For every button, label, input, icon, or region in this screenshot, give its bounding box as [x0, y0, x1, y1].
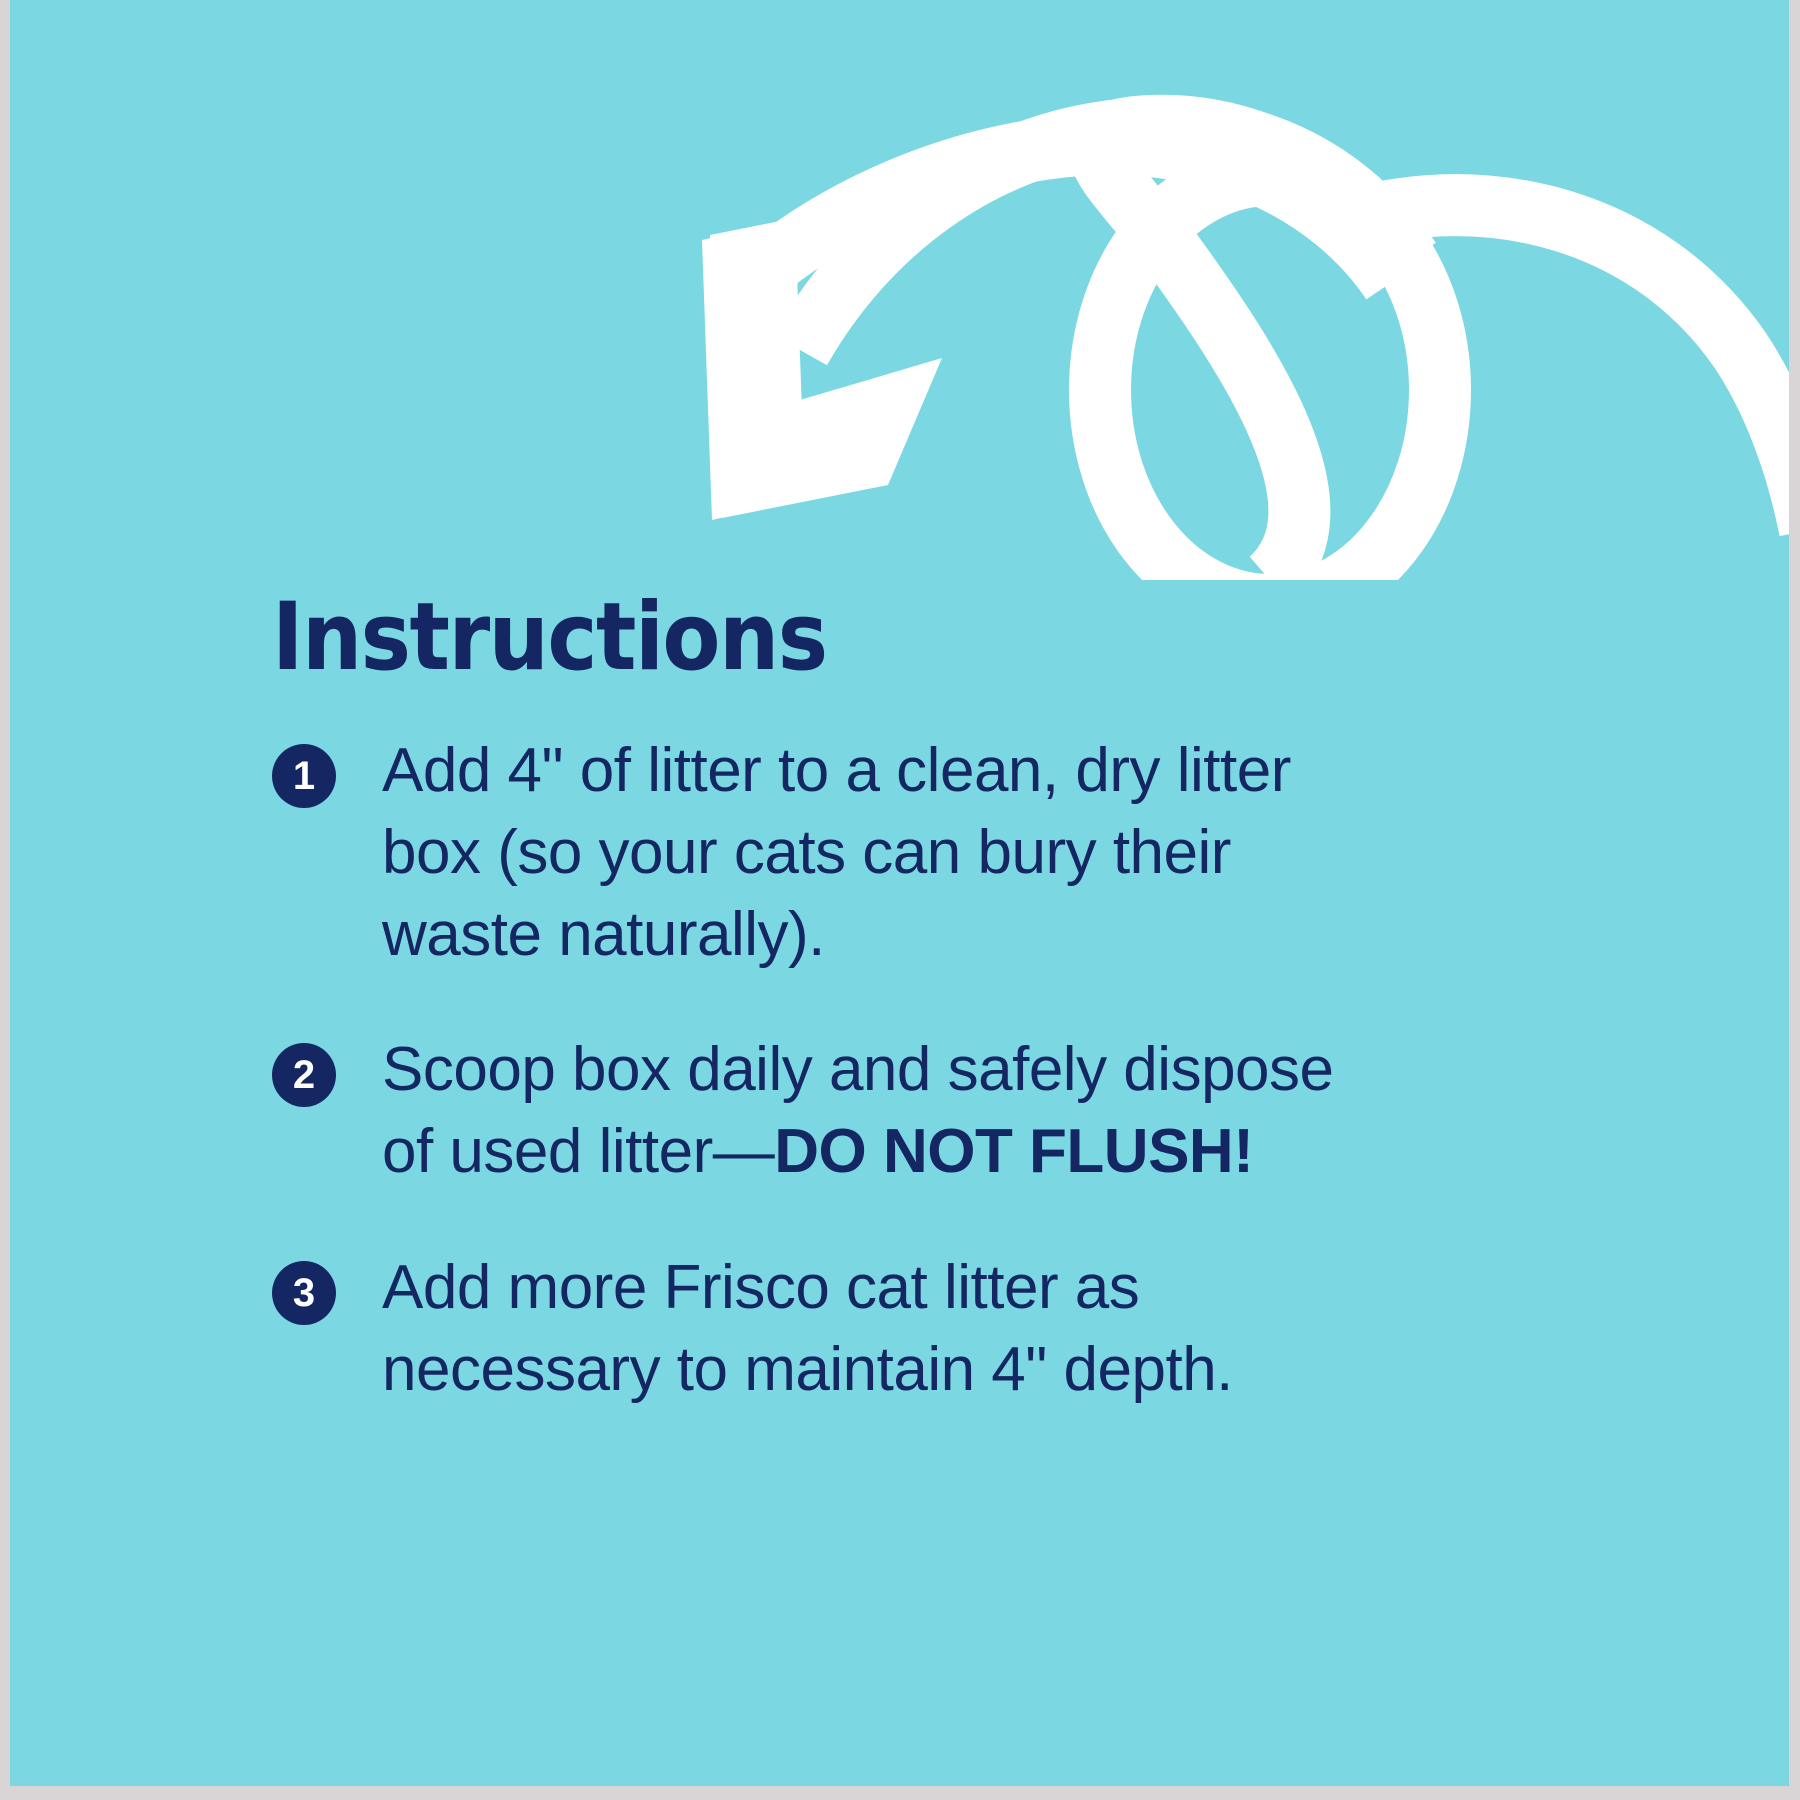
step-text: Add more Frisco cat litter as necessary …: [382, 1247, 1312, 1411]
step-text: Add 4" of litter to a clean, dry litter …: [382, 730, 1372, 975]
instruction-step: 1 Add 4" of litter to a clean, dry litte…: [272, 730, 1592, 975]
step-number-badge: 1: [272, 744, 336, 808]
page-title: Instructions: [272, 590, 1592, 686]
step-number-badge: 2: [272, 1043, 336, 1107]
instruction-step: 3 Add more Frisco cat litter as necessar…: [272, 1247, 1592, 1411]
instruction-step: 2 Scoop box daily and safely dispose of …: [272, 1029, 1592, 1193]
instructions-card: Instructions 1 Add 4" of litter to a cle…: [10, 0, 1789, 1786]
step-text-segment: Add 4" of litter to a clean, dry litter …: [382, 736, 1291, 969]
step-number-badge: 3: [272, 1261, 336, 1325]
step-text-segment: Add more Frisco cat litter as necessary …: [382, 1253, 1233, 1404]
curved-loop-arrow-icon: [650, 60, 1789, 580]
step-text-emphasis: DO NOT FLUSH!: [774, 1117, 1253, 1186]
step-text: Scoop box daily and safely dispose of us…: [382, 1029, 1392, 1193]
instructions-content: Instructions 1 Add 4" of litter to a cle…: [272, 590, 1592, 1411]
